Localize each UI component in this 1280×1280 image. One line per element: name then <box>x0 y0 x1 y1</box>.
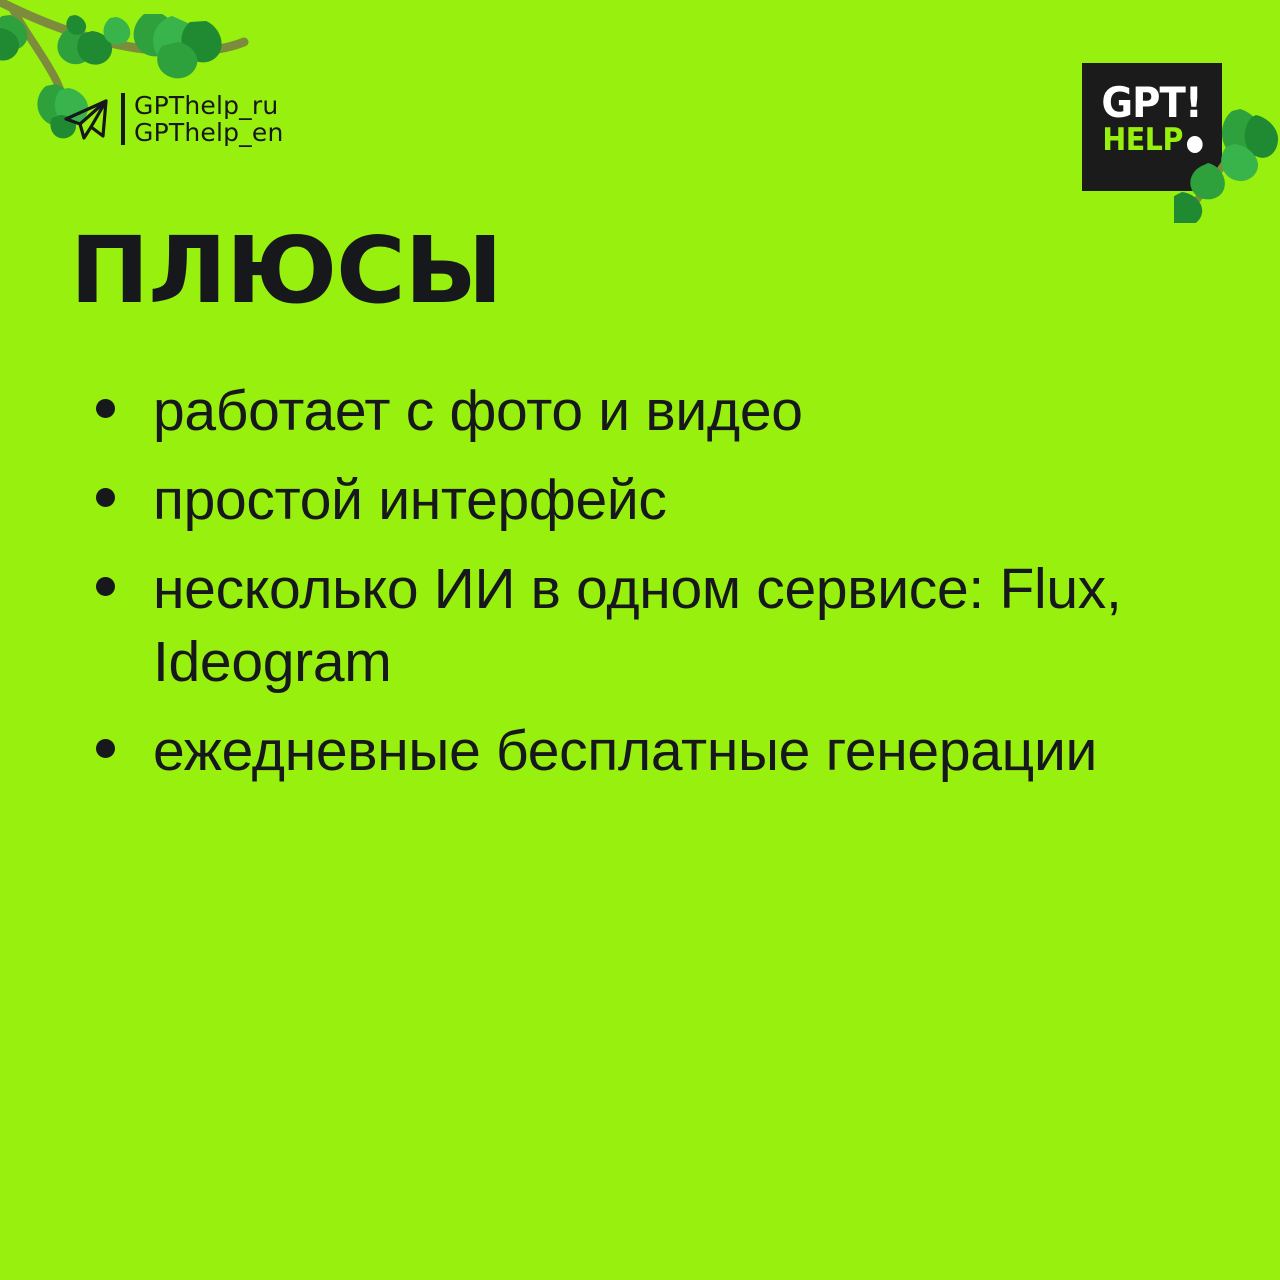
list-item: ежедневные бесплатные генерации <box>96 715 1236 788</box>
handle-divider <box>121 93 125 145</box>
leaf-icon <box>0 15 28 61</box>
list-item: работает с фото и видео <box>96 375 1236 448</box>
slide-canvas: GPThelp_ru GPThelp_en GPT! HELP <box>0 0 1280 1280</box>
brand-logo[interactable]: GPT! HELP <box>1082 63 1222 191</box>
leaf-icon <box>134 14 222 78</box>
bullet-dot-icon <box>96 488 115 507</box>
leaf-icon <box>103 17 130 45</box>
bullet-dot-icon <box>96 739 115 758</box>
logo-line-help: HELP <box>1102 125 1183 156</box>
telegram-handle-block[interactable]: GPThelp_ru GPThelp_en <box>60 92 284 146</box>
advantages-list: работает с фото и видео простой интерфей… <box>96 375 1236 804</box>
handle-names: GPThelp_ru GPThelp_en <box>134 92 284 146</box>
list-item-label: ежедневные бесплатные генерации <box>153 715 1097 788</box>
page-title: ПЛЮСЫ <box>70 225 502 317</box>
logo-line-help-row: HELP <box>1102 125 1202 156</box>
bullet-dot-icon <box>96 399 115 418</box>
telegram-handle-ru[interactable]: GPThelp_ru <box>134 92 284 119</box>
leaf-icon <box>1221 109 1278 181</box>
telegram-handle-en[interactable]: GPThelp_en <box>134 119 284 146</box>
logo-text: GPT! HELP <box>1082 83 1222 156</box>
logo-line-gpt: GPT! <box>1102 83 1202 123</box>
list-item-label: работает с фото и видео <box>153 375 803 448</box>
list-item: несколько ИИ в одном сервисе: Flux, Ideo… <box>96 553 1236 699</box>
list-item-label: простой интерфейс <box>153 464 667 537</box>
list-item-label: несколько ИИ в одном сервисе: Flux, Ideo… <box>153 553 1183 699</box>
telegram-plane-icon <box>60 93 112 145</box>
logo-dot-icon <box>1186 136 1202 153</box>
leaf-icon <box>66 15 86 35</box>
bullet-dot-icon <box>96 577 115 596</box>
leaf-icon <box>57 29 112 65</box>
leaf-icon <box>1174 192 1202 223</box>
list-item: простой интерфейс <box>96 464 1236 537</box>
